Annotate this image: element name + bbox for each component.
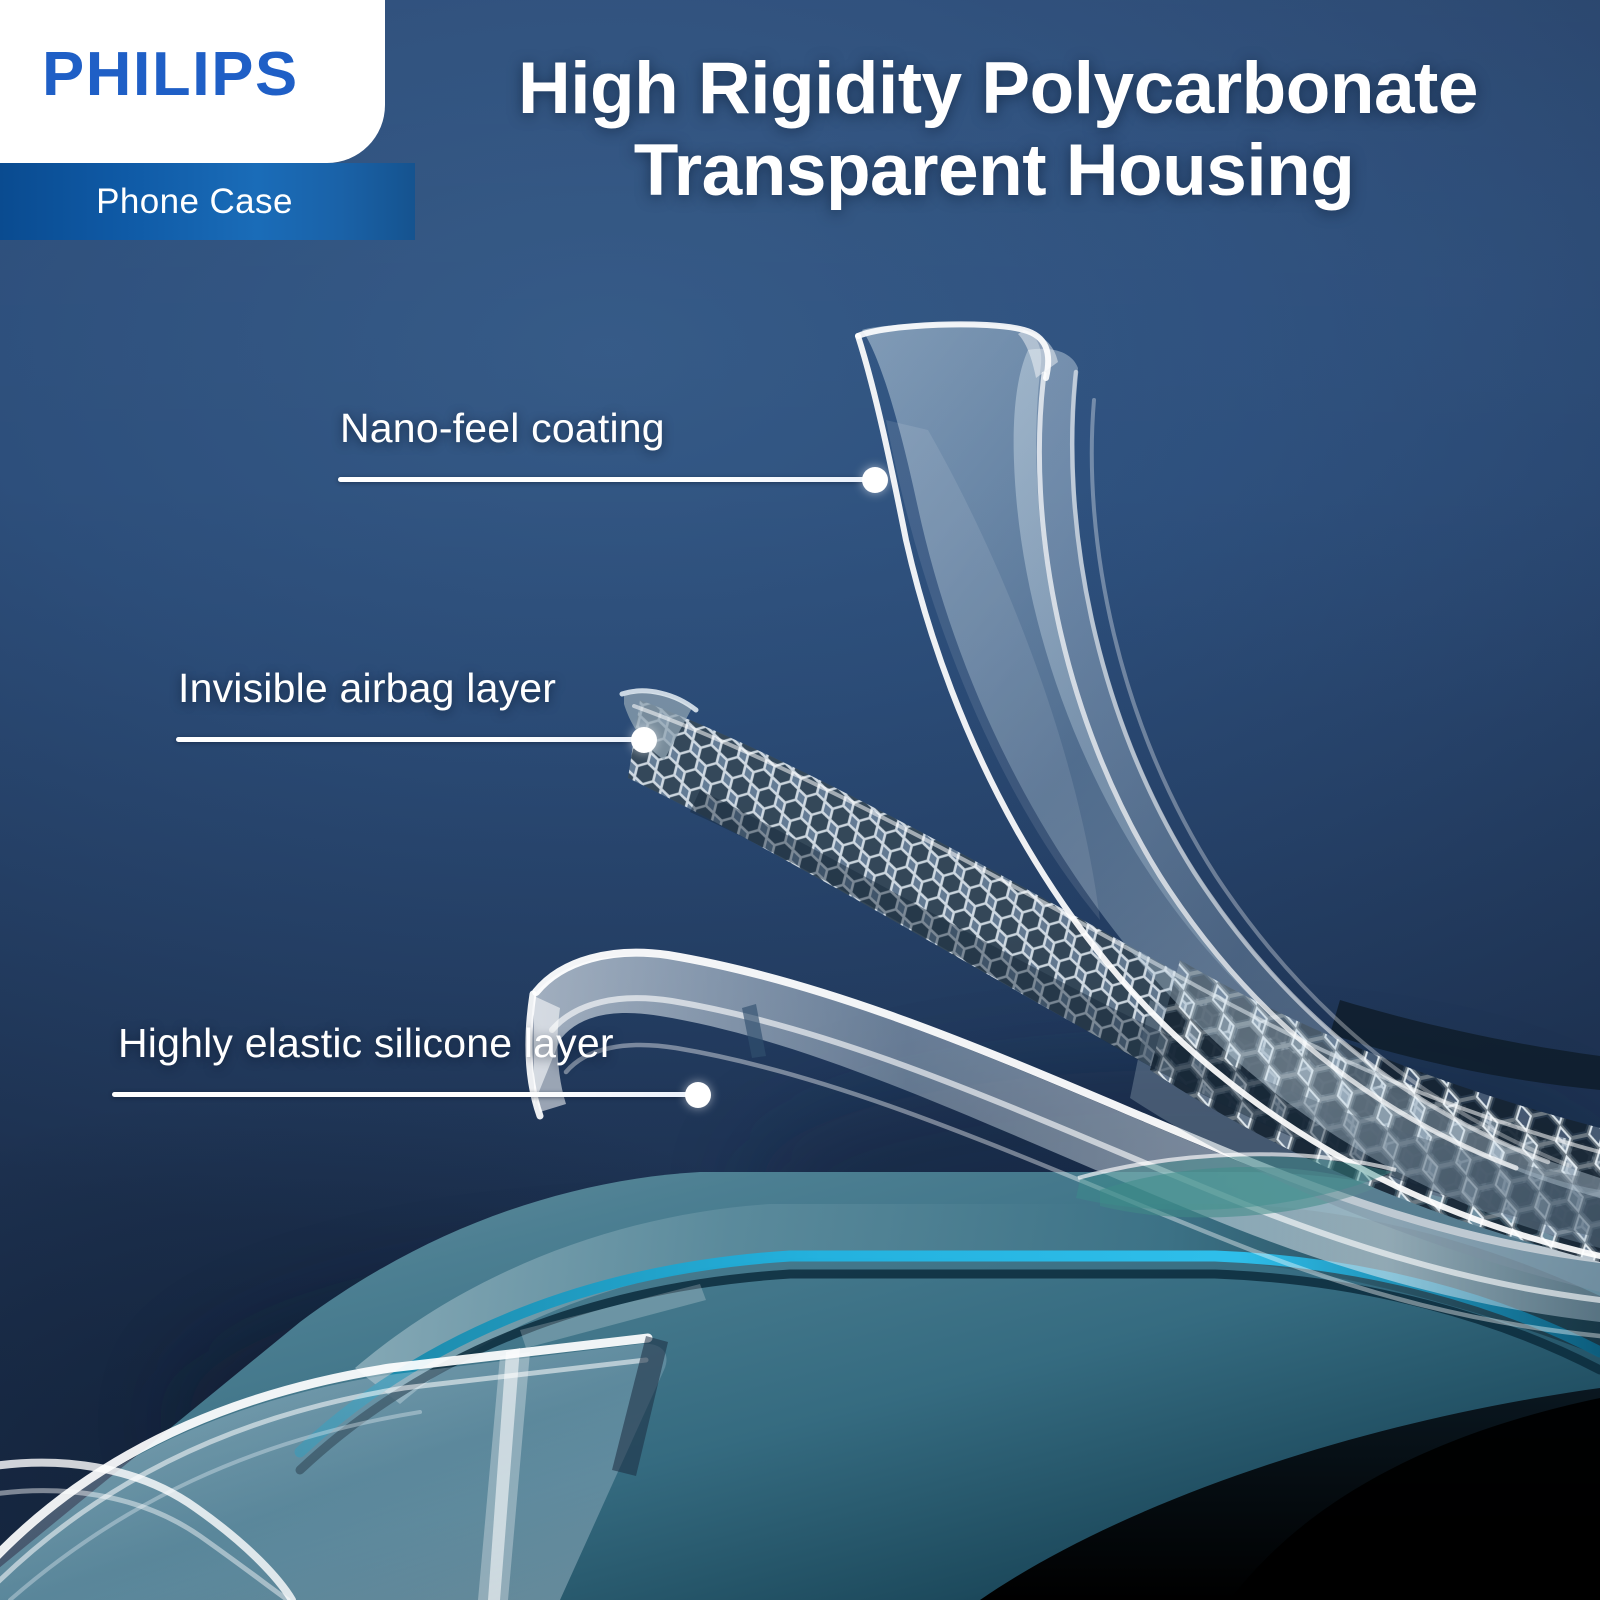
callout-leader-line	[112, 1092, 698, 1097]
callout-label: Invisible airbag layer	[178, 665, 556, 712]
brand-plate: PHILIPS	[0, 0, 385, 163]
product-illustration	[0, 0, 1600, 1600]
brand-category-label: Phone Case	[0, 163, 415, 240]
brand-category-band: Phone Case	[0, 163, 415, 240]
page-title: High Rigidity Polycarbonate Transparent …	[408, 48, 1588, 213]
callout-leader-line	[176, 737, 645, 742]
case-bottom-edge	[0, 1336, 668, 1600]
callout-dot-icon	[862, 467, 888, 493]
philips-logo: PHILIPS	[42, 44, 299, 106]
page-title-line-2: Transparent Housing	[404, 130, 1584, 212]
callout-leader-line	[338, 477, 876, 482]
callout-label: Highly elastic silicone layer	[118, 1020, 614, 1067]
brand-block: PHILIPS Phone Case	[0, 0, 415, 240]
callout-dot-icon	[631, 727, 657, 753]
callout-label: Nano-feel coating	[340, 405, 665, 452]
product-infographic: PHILIPS Phone Case High Rigidity Polycar…	[0, 0, 1600, 1600]
page-title-line-1: High Rigidity Polycarbonate	[408, 48, 1588, 130]
callout-dot-icon	[685, 1082, 711, 1108]
